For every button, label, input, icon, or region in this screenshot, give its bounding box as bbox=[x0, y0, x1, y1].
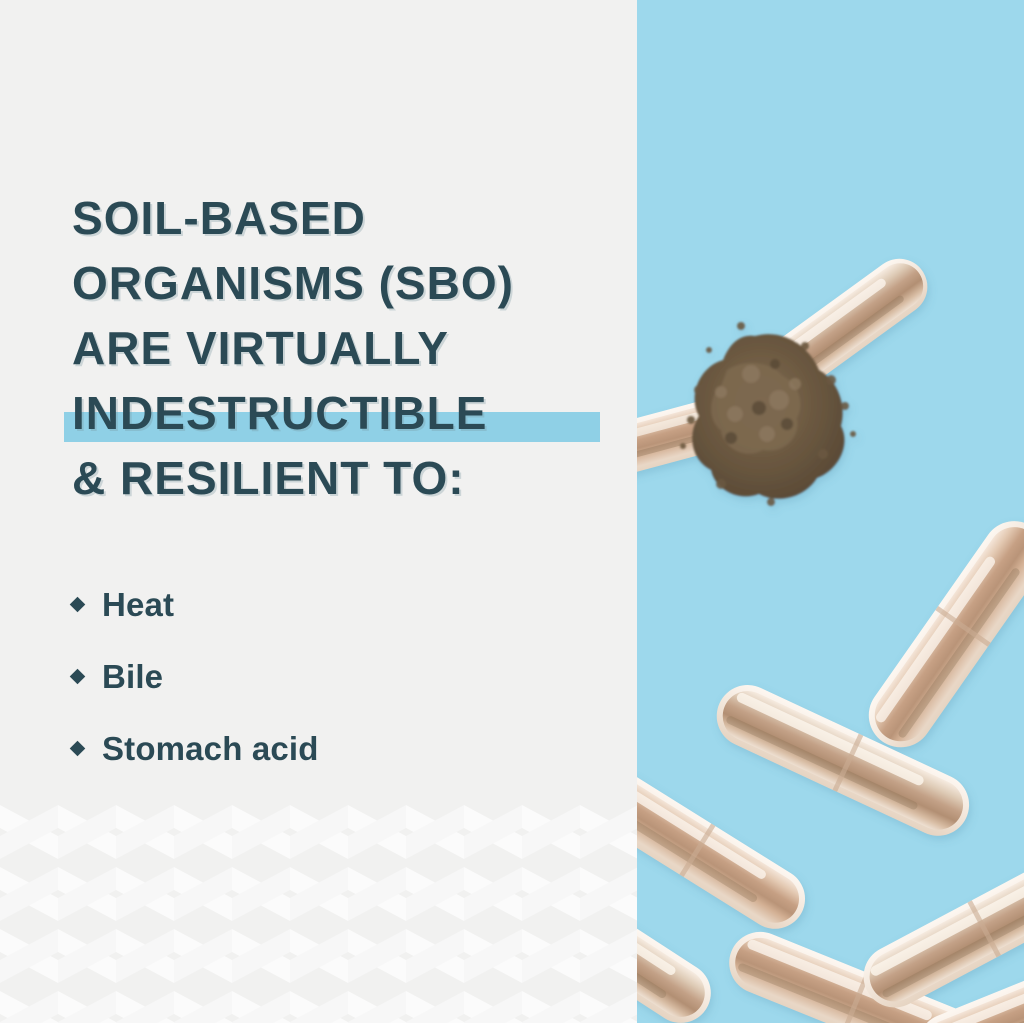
headline-line-5-text: & RESILIENT TO: bbox=[72, 452, 465, 504]
list-item-label: Heat bbox=[102, 588, 174, 621]
list-item: Bile bbox=[72, 640, 552, 712]
left-content-panel: SOIL-BASED ORGANISMS (SBO) ARE VIRTUALLY… bbox=[0, 0, 637, 1023]
resilience-bullet-list: Heat Bile Stomach acid bbox=[72, 568, 552, 784]
list-item-label: Stomach acid bbox=[102, 732, 319, 765]
headline: SOIL-BASED ORGANISMS (SBO) ARE VIRTUALLY… bbox=[72, 186, 612, 511]
infographic-canvas: SOIL-BASED ORGANISMS (SBO) ARE VIRTUALLY… bbox=[0, 0, 1024, 1023]
diamond-bullet-icon bbox=[70, 668, 86, 684]
list-item-label: Bile bbox=[102, 660, 163, 693]
diamond-bullet-icon bbox=[70, 596, 86, 612]
headline-line-5: & RESILIENT TO: bbox=[72, 446, 612, 511]
headline-line-1-text: SOIL-BASED bbox=[72, 192, 366, 244]
chevron-herringbone-pattern bbox=[0, 805, 637, 1023]
capsule-photo bbox=[637, 0, 1024, 1023]
headline-line-4-text: INDESTRUCTIBLE bbox=[72, 387, 487, 439]
diamond-bullet-icon bbox=[70, 740, 86, 756]
headline-line-3-text: ARE VIRTUALLY bbox=[72, 322, 449, 374]
headline-line-1: SOIL-BASED bbox=[72, 186, 612, 251]
headline-line-4: INDESTRUCTIBLE bbox=[72, 381, 612, 446]
headline-line-2-text: ORGANISMS (SBO) bbox=[72, 257, 514, 309]
list-item: Heat bbox=[72, 568, 552, 640]
list-item: Stomach acid bbox=[72, 712, 552, 784]
headline-line-3: ARE VIRTUALLY bbox=[72, 316, 612, 381]
headline-line-2: ORGANISMS (SBO) bbox=[72, 251, 612, 316]
